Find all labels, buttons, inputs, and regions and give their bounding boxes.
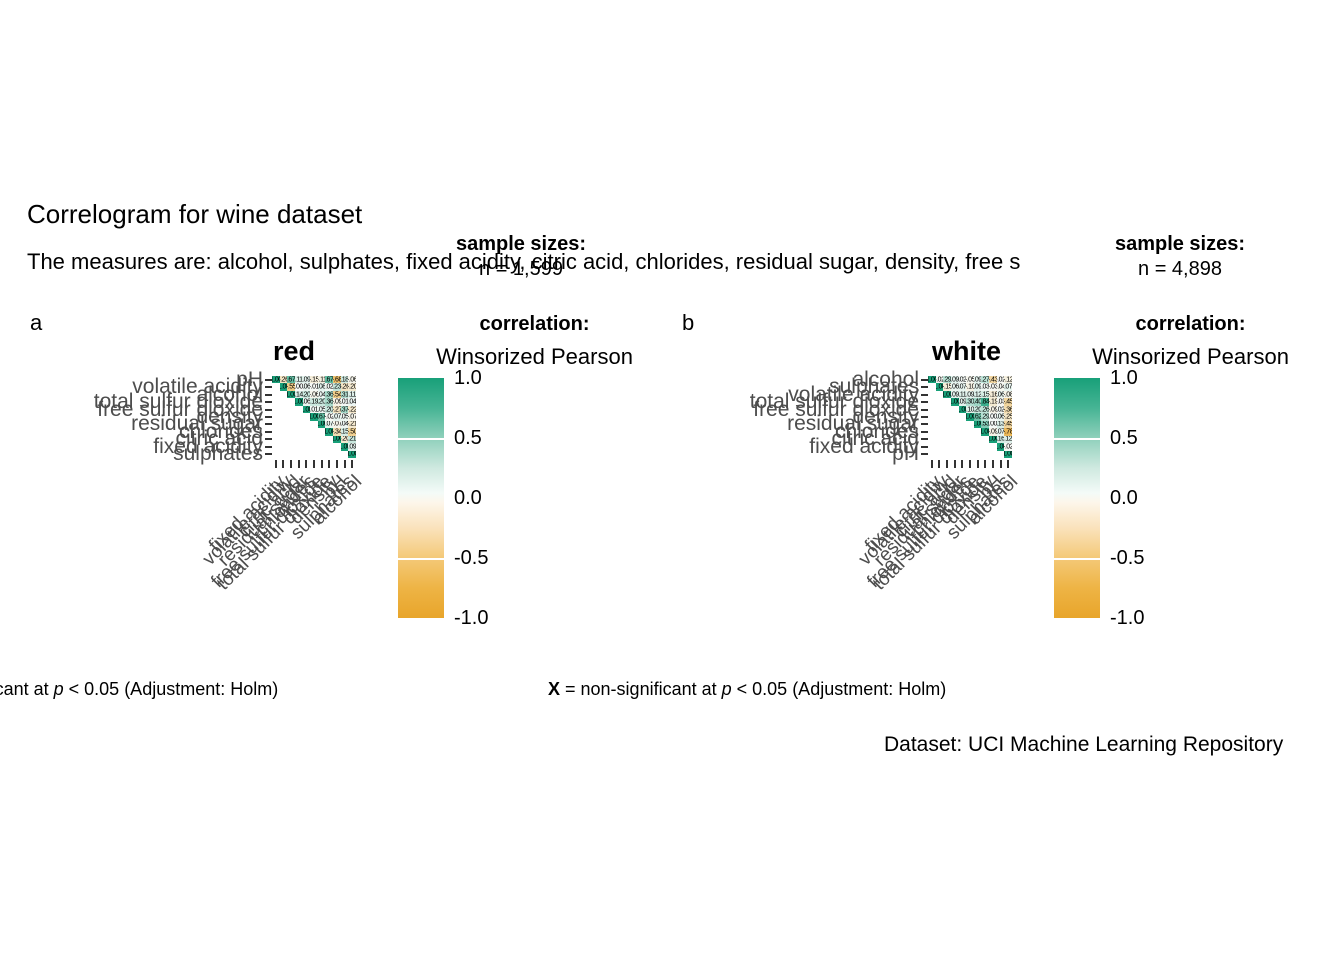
- matrix-cell[interactable]: [959, 436, 967, 443]
- matrix-cell[interactable]: .14: [295, 391, 303, 398]
- matrix-cell[interactable]: .37: [341, 406, 349, 413]
- matrix-cell[interactable]: 1.00: [287, 391, 295, 398]
- matrix-cell[interactable]: -.27: [333, 406, 341, 413]
- correlation-value: .07: [959, 384, 967, 391]
- matrix-cell[interactable]: -.54: [333, 391, 341, 398]
- matrix-cell[interactable]: .07: [333, 413, 341, 420]
- matrix-cell[interactable]: .09: [951, 391, 959, 398]
- legend-colorbar-white[interactable]: [1054, 378, 1100, 618]
- matrix-cell[interactable]: 1.00: [989, 436, 997, 443]
- legend-tick-line: [398, 438, 444, 440]
- matrix-cell[interactable]: .12: [974, 391, 982, 398]
- x-axis-tick: [298, 460, 300, 468]
- matrix-cell[interactable]: -.43: [989, 376, 997, 383]
- x-axis-tick: [938, 460, 940, 468]
- matrix-cell[interactable]: .20: [303, 391, 311, 398]
- matrix-cell[interactable]: .06: [997, 413, 1005, 420]
- matrix-cell[interactable]: [936, 406, 944, 413]
- matrix-cell[interactable]: .13: [997, 421, 1005, 428]
- y-axis-label: alcohol: [852, 369, 919, 390]
- matrix-cell[interactable]: -.45: [1004, 421, 1012, 428]
- correlation-value: 1.00: [295, 399, 303, 406]
- matrix-cell[interactable]: [928, 443, 936, 450]
- matrix-cell[interactable]: [974, 428, 982, 435]
- correlation-value: -.27: [333, 406, 341, 413]
- matrix-cell[interactable]: [943, 428, 951, 435]
- caption-tail-red: < 0.05 (Adjustment: Holm): [64, 679, 279, 699]
- matrix-cell[interactable]: -.10: [966, 383, 974, 390]
- matrix-cell[interactable]: [936, 436, 944, 443]
- correlation-value: -.25: [1004, 413, 1012, 420]
- matrix-cell[interactable]: .19: [310, 398, 318, 405]
- correlation-value: .01: [341, 399, 349, 406]
- matrix-cell[interactable]: .06: [997, 391, 1005, 398]
- x-axis-tick: [984, 460, 986, 468]
- matrix-cell[interactable]: -.02: [997, 376, 1005, 383]
- matrix-cell[interactable]: -.15: [310, 376, 318, 383]
- correlation-value: .07: [997, 428, 1005, 435]
- matrix-cell[interactable]: .05: [341, 413, 349, 420]
- matrix-cell[interactable]: 1.00: [928, 376, 936, 383]
- matrix-cell[interactable]: -.15: [943, 383, 951, 390]
- matrix-cell[interactable]: .10: [966, 406, 974, 413]
- matrix-cell[interactable]: [943, 443, 951, 450]
- x-axis-tick: [282, 460, 284, 468]
- correlation-value: 1.00: [943, 391, 951, 398]
- correlation-matrix-white[interactable]: 1.00-.02.29.09.02-.05.09.27-.43-.02-.121…: [928, 376, 1012, 458]
- correlation-value: 1.00: [959, 406, 967, 413]
- matrix-cell[interactable]: [951, 406, 959, 413]
- matrix-cell[interactable]: -.20: [348, 383, 356, 390]
- matrix-cell[interactable]: .67: [318, 413, 326, 420]
- matrix-cell[interactable]: -.05: [966, 376, 974, 383]
- matrix-cell[interactable]: -.03: [997, 398, 1005, 405]
- matrix-cell[interactable]: -.34: [333, 428, 341, 435]
- matrix-cell[interactable]: [287, 436, 295, 443]
- matrix-cell[interactable]: [989, 443, 997, 450]
- matrix-cell[interactable]: .26: [981, 406, 989, 413]
- matrix-cell[interactable]: [310, 436, 318, 443]
- matrix-cell[interactable]: [303, 443, 311, 450]
- matrix-cell[interactable]: [974, 443, 982, 450]
- matrix-cell[interactable]: [959, 413, 967, 420]
- matrix-cell[interactable]: [951, 436, 959, 443]
- matrix-cell[interactable]: -.04: [997, 383, 1005, 390]
- matrix-cell[interactable]: -.02: [325, 413, 333, 420]
- matrix-cell[interactable]: [318, 443, 326, 450]
- matrix-cell[interactable]: [966, 428, 974, 435]
- correlation-value: -.15: [943, 384, 951, 391]
- matrix-cell[interactable]: [959, 451, 967, 458]
- matrix-cell[interactable]: -.11: [318, 376, 326, 383]
- matrix-cell[interactable]: -.02: [936, 376, 944, 383]
- matrix-cell[interactable]: [936, 443, 944, 450]
- y-axis-label: citric acid: [175, 428, 263, 449]
- matrix-cell[interactable]: [272, 451, 280, 458]
- matrix-cell[interactable]: -.36: [1004, 406, 1012, 413]
- matrix-cell[interactable]: [295, 451, 303, 458]
- matrix-cell[interactable]: -.09: [989, 406, 997, 413]
- matrix-cell[interactable]: -.20: [341, 436, 349, 443]
- correlation-value: .07: [325, 421, 333, 428]
- matrix-cell[interactable]: [310, 421, 318, 428]
- matrix-cell[interactable]: [943, 398, 951, 405]
- matrix-cell[interactable]: [280, 451, 288, 458]
- sample-size-value-white: n = 4,898: [1090, 256, 1270, 282]
- matrix-cell[interactable]: [295, 413, 303, 420]
- matrix-cell[interactable]: -.06: [310, 391, 318, 398]
- matrix-cell[interactable]: .20: [974, 406, 982, 413]
- matrix-cell[interactable]: .05: [318, 406, 326, 413]
- y-axis-label: pH: [892, 443, 919, 464]
- matrix-cell[interactable]: -.50: [348, 428, 356, 435]
- matrix-cell[interactable]: .40: [974, 398, 982, 405]
- matrix-cell[interactable]: .20: [318, 398, 326, 405]
- matrix-cell[interactable]: .30: [966, 398, 974, 405]
- matrix-cell[interactable]: .27: [981, 376, 989, 383]
- matrix-cell[interactable]: .09: [966, 391, 974, 398]
- y-axis-tick: [265, 386, 272, 388]
- matrix-cell[interactable]: .01: [341, 398, 349, 405]
- matrix-cell[interactable]: [272, 413, 280, 420]
- matrix-cell[interactable]: [272, 443, 280, 450]
- matrix-cell[interactable]: 1.00: [981, 428, 989, 435]
- correlation-value: 1.00: [318, 421, 326, 428]
- x-axis-tick: [1007, 460, 1009, 468]
- matrix-cell[interactable]: .11: [295, 376, 303, 383]
- matrix-cell[interactable]: .23: [333, 383, 341, 390]
- matrix-cell[interactable]: -.22: [348, 406, 356, 413]
- matrix-cell[interactable]: [272, 391, 280, 398]
- matrix-cell[interactable]: .08: [318, 383, 326, 390]
- matrix-cell[interactable]: [295, 406, 303, 413]
- matrix-cell[interactable]: [981, 443, 989, 450]
- matrix-cell[interactable]: [936, 398, 944, 405]
- matrix-cell[interactable]: .29: [943, 376, 951, 383]
- matrix-cell[interactable]: [310, 443, 318, 450]
- matrix-cell[interactable]: 1.00: [966, 413, 974, 420]
- matrix-cell[interactable]: -.12: [1004, 376, 1012, 383]
- matrix-cell[interactable]: [272, 383, 280, 390]
- matrix-cell[interactable]: [951, 443, 959, 450]
- x-axis-label: alcohol: [867, 472, 1022, 627]
- matrix-cell[interactable]: .84: [981, 398, 989, 405]
- matrix-cell[interactable]: .09: [959, 398, 967, 405]
- matrix-cell[interactable]: -.09: [989, 428, 997, 435]
- matrix-cell[interactable]: [318, 436, 326, 443]
- legend-tick-label: 0.0: [454, 488, 482, 508]
- matrix-cell[interactable]: [943, 413, 951, 420]
- matrix-cell[interactable]: [303, 451, 311, 458]
- matrix-cell[interactable]: 1.00: [997, 443, 1005, 450]
- matrix-cell[interactable]: 1.00: [303, 406, 311, 413]
- matrix-cell[interactable]: .62: [974, 413, 982, 420]
- y-axis-label: residual sugar: [787, 413, 919, 434]
- matrix-cell[interactable]: -.08: [1004, 391, 1012, 398]
- matrix-cell[interactable]: .03: [981, 383, 989, 390]
- matrix-cell[interactable]: 1.00: [333, 436, 341, 443]
- matrix-cell[interactable]: [280, 428, 288, 435]
- x-axis-label: volatile acidity: [798, 472, 953, 627]
- matrix-cell[interactable]: [310, 428, 318, 435]
- matrix-cell[interactable]: .09: [303, 376, 311, 383]
- y-axis-tick: [921, 386, 928, 388]
- matrix-cell[interactable]: [966, 436, 974, 443]
- matrix-cell[interactable]: [280, 406, 288, 413]
- matrix-cell[interactable]: [272, 428, 280, 435]
- matrix-cell[interactable]: [325, 451, 333, 458]
- correlation-value: -.11: [318, 376, 326, 383]
- matrix-cell[interactable]: -.68: [333, 376, 341, 383]
- matrix-cell[interactable]: [966, 451, 974, 458]
- matrix-cell[interactable]: [974, 451, 982, 458]
- matrix-cell[interactable]: -.06: [348, 376, 356, 383]
- matrix-cell[interactable]: 1.00: [272, 376, 280, 383]
- matrix-cell[interactable]: -.26: [341, 383, 349, 390]
- matrix-cell[interactable]: -.07: [348, 413, 356, 420]
- correlation-value: .16: [997, 436, 1005, 443]
- matrix-cell[interactable]: -.03: [989, 383, 997, 390]
- correlation-value: .05: [341, 413, 349, 420]
- matrix-cell[interactable]: .00: [295, 383, 303, 390]
- matrix-cell[interactable]: .09: [974, 383, 982, 390]
- matrix-cell[interactable]: [303, 421, 311, 428]
- matrix-cell[interactable]: .06: [303, 398, 311, 405]
- matrix-cell[interactable]: [928, 406, 936, 413]
- matrix-cell[interactable]: -.21: [348, 421, 356, 428]
- matrix-cell[interactable]: [303, 428, 311, 435]
- matrix-cell[interactable]: .01: [310, 406, 318, 413]
- matrix-cell[interactable]: [287, 406, 295, 413]
- matrix-cell[interactable]: -.26: [280, 376, 288, 383]
- matrix-cell[interactable]: [280, 398, 288, 405]
- matrix-cell[interactable]: [295, 436, 303, 443]
- matrix-cell[interactable]: .36: [325, 398, 333, 405]
- matrix-cell[interactable]: [928, 421, 936, 428]
- legend-subheading-red: Winsorized Pearson: [392, 344, 677, 370]
- y-axis-tick: [921, 423, 928, 425]
- matrix-cell[interactable]: -.02: [1004, 443, 1012, 450]
- matrix-cell[interactable]: .02: [325, 383, 333, 390]
- matrix-cell[interactable]: .00: [989, 421, 997, 428]
- matrix-cell[interactable]: 1.00: [318, 421, 326, 428]
- matrix-cell[interactable]: .29: [981, 413, 989, 420]
- matrix-cell[interactable]: .31: [341, 391, 349, 398]
- panel-tag-b: b: [682, 311, 694, 335]
- matrix-cell[interactable]: [287, 451, 295, 458]
- correlation-value: 1.00: [325, 428, 333, 435]
- matrix-cell[interactable]: [928, 398, 936, 405]
- matrix-cell[interactable]: [966, 421, 974, 428]
- matrix-cell[interactable]: [928, 383, 936, 390]
- matrix-cell[interactable]: .67: [325, 376, 333, 383]
- matrix-cell[interactable]: .15: [981, 391, 989, 398]
- matrix-cell[interactable]: -.16: [989, 391, 997, 398]
- matrix-cell[interactable]: .11: [348, 391, 356, 398]
- matrix-cell[interactable]: [943, 421, 951, 428]
- matrix-cell[interactable]: .07: [1004, 383, 1012, 390]
- correlation-value: .26: [981, 406, 989, 413]
- matrix-cell[interactable]: [943, 451, 951, 458]
- matrix-cell[interactable]: [295, 443, 303, 450]
- matrix-cell[interactable]: 1.00: [280, 383, 288, 390]
- matrix-cell[interactable]: [997, 451, 1005, 458]
- matrix-cell[interactable]: -.01: [310, 383, 318, 390]
- matrix-cell[interactable]: [310, 451, 318, 458]
- correlation-value: -.21: [348, 421, 356, 428]
- x-axis-label: citric acid: [806, 472, 961, 627]
- matrix-cell[interactable]: [951, 428, 959, 435]
- matrix-cell[interactable]: [981, 436, 989, 443]
- matrix-cell[interactable]: [959, 421, 967, 428]
- matrix-cell[interactable]: [287, 428, 295, 435]
- matrix-cell[interactable]: [272, 398, 280, 405]
- matrix-cell[interactable]: -.45: [1004, 398, 1012, 405]
- y-axis-label: residual sugar: [131, 413, 263, 434]
- matrix-cell[interactable]: [287, 398, 295, 405]
- matrix-cell[interactable]: [287, 443, 295, 450]
- matrix-cell[interactable]: [287, 413, 295, 420]
- matrix-cell[interactable]: [280, 413, 288, 420]
- matrix-cell[interactable]: 1.00: [943, 391, 951, 398]
- matrix-cell[interactable]: 1.00: [341, 443, 349, 450]
- matrix-cell[interactable]: .12: [1004, 436, 1012, 443]
- correlation-value: .06: [997, 413, 1005, 420]
- matrix-cell[interactable]: 1.00: [951, 398, 959, 405]
- matrix-cell[interactable]: [280, 443, 288, 450]
- matrix-cell[interactable]: .09: [951, 376, 959, 383]
- matrix-cell[interactable]: [333, 443, 341, 450]
- matrix-cell[interactable]: [981, 451, 989, 458]
- matrix-cell[interactable]: .36: [325, 391, 333, 398]
- matrix-cell[interactable]: [318, 451, 326, 458]
- matrix-cell[interactable]: [989, 451, 997, 458]
- correlation-value: 1.00: [348, 451, 356, 458]
- sample-size-heading-red: sample sizes:: [431, 232, 611, 256]
- matrix-cell[interactable]: .06: [303, 383, 311, 390]
- matrix-cell[interactable]: .21: [348, 436, 356, 443]
- matrix-cell[interactable]: .02: [997, 406, 1005, 413]
- matrix-cell[interactable]: [951, 413, 959, 420]
- matrix-cell[interactable]: [928, 436, 936, 443]
- matrix-cell[interactable]: [936, 428, 944, 435]
- matrix-cell[interactable]: [280, 421, 288, 428]
- matrix-cell[interactable]: .20: [325, 406, 333, 413]
- matrix-cell[interactable]: .04: [348, 398, 356, 405]
- x-axis-tick: [992, 460, 994, 468]
- matrix-cell[interactable]: .67: [287, 376, 295, 383]
- matrix-cell[interactable]: -.07: [333, 421, 341, 428]
- matrix-cell[interactable]: 1.00: [959, 406, 967, 413]
- matrix-cell[interactable]: -.78: [1004, 428, 1012, 435]
- correlation-matrix-red[interactable]: 1.00-.26.67.11.09-.15-.11.67-.68.18-.061…: [272, 376, 356, 458]
- matrix-cell[interactable]: [936, 451, 944, 458]
- matrix-cell[interactable]: [974, 436, 982, 443]
- matrix-cell[interactable]: [295, 428, 303, 435]
- correlation-value: .14: [295, 391, 303, 398]
- matrix-cell[interactable]: .18: [341, 376, 349, 383]
- matrix-cell[interactable]: .16: [997, 436, 1005, 443]
- matrix-cell[interactable]: .09: [974, 376, 982, 383]
- matrix-cell[interactable]: [303, 413, 311, 420]
- matrix-cell[interactable]: [272, 436, 280, 443]
- matrix-cell[interactable]: [325, 436, 333, 443]
- matrix-cell[interactable]: 1.00: [1004, 451, 1012, 458]
- matrix-cell[interactable]: .07: [959, 383, 967, 390]
- matrix-cell[interactable]: [943, 406, 951, 413]
- matrix-cell[interactable]: -.19: [989, 398, 997, 405]
- matrix-cell[interactable]: .11: [959, 391, 967, 398]
- matrix-cell[interactable]: [966, 443, 974, 450]
- matrix-cell[interactable]: .00: [989, 413, 997, 420]
- matrix-cell[interactable]: [959, 428, 967, 435]
- matrix-cell[interactable]: -.25: [1004, 413, 1012, 420]
- matrix-cell[interactable]: [928, 451, 936, 458]
- matrix-cell[interactable]: 1.00: [348, 451, 356, 458]
- matrix-cell[interactable]: .53: [981, 421, 989, 428]
- matrix-cell[interactable]: [318, 428, 326, 435]
- matrix-cell[interactable]: [295, 421, 303, 428]
- matrix-cell[interactable]: [928, 391, 936, 398]
- matrix-cell[interactable]: [272, 406, 280, 413]
- matrix-cell[interactable]: [928, 428, 936, 435]
- matrix-cell[interactable]: .04: [318, 391, 326, 398]
- matrix-cell[interactable]: .07: [325, 421, 333, 428]
- matrix-cell[interactable]: .04: [341, 421, 349, 428]
- matrix-cell[interactable]: 1.00: [295, 398, 303, 405]
- matrix-cell[interactable]: [325, 443, 333, 450]
- matrix-cell[interactable]: .06: [951, 383, 959, 390]
- correlation-value: 1.00: [966, 413, 974, 420]
- matrix-cell[interactable]: -.55: [287, 383, 295, 390]
- matrix-cell[interactable]: [936, 391, 944, 398]
- matrix-cell[interactable]: [936, 413, 944, 420]
- x-axis-tick: [1000, 460, 1002, 468]
- x-axis-label: fixed acidity: [134, 472, 289, 627]
- matrix-cell[interactable]: [333, 451, 341, 458]
- matrix-cell[interactable]: [287, 421, 295, 428]
- matrix-cell[interactable]: 1.00: [936, 383, 944, 390]
- matrix-cell[interactable]: 1.00: [325, 428, 333, 435]
- correlation-value: .02: [325, 384, 333, 391]
- legend-subheading-white: Winsorized Pearson: [1048, 344, 1333, 370]
- matrix-cell[interactable]: [280, 391, 288, 398]
- matrix-cell[interactable]: [928, 413, 936, 420]
- matrix-cell[interactable]: [943, 436, 951, 443]
- matrix-cell[interactable]: .15: [341, 428, 349, 435]
- figure-title: Correlogram for wine dataset: [27, 199, 362, 229]
- matrix-cell[interactable]: .09: [348, 443, 356, 450]
- matrix-cell[interactable]: [280, 436, 288, 443]
- legend-colorbar-red[interactable]: [398, 378, 444, 618]
- matrix-cell[interactable]: [303, 436, 311, 443]
- legend-heading-red: correlation:: [392, 312, 677, 336]
- matrix-cell[interactable]: [951, 421, 959, 428]
- matrix-cell[interactable]: [959, 443, 967, 450]
- correlation-value: -.50: [348, 428, 356, 435]
- correlation-value: -.54: [333, 391, 341, 398]
- matrix-cell[interactable]: 1.00: [974, 421, 982, 428]
- matrix-cell[interactable]: [272, 421, 280, 428]
- matrix-cell[interactable]: 1.00: [310, 413, 318, 420]
- matrix-cell[interactable]: [936, 421, 944, 428]
- matrix-cell[interactable]: .07: [997, 428, 1005, 435]
- matrix-cell[interactable]: .02: [959, 376, 967, 383]
- matrix-cell[interactable]: [951, 451, 959, 458]
- matrix-cell[interactable]: -.09: [333, 398, 341, 405]
- legend-tick-label: 1.0: [454, 368, 482, 388]
- matrix-cell[interactable]: [341, 451, 349, 458]
